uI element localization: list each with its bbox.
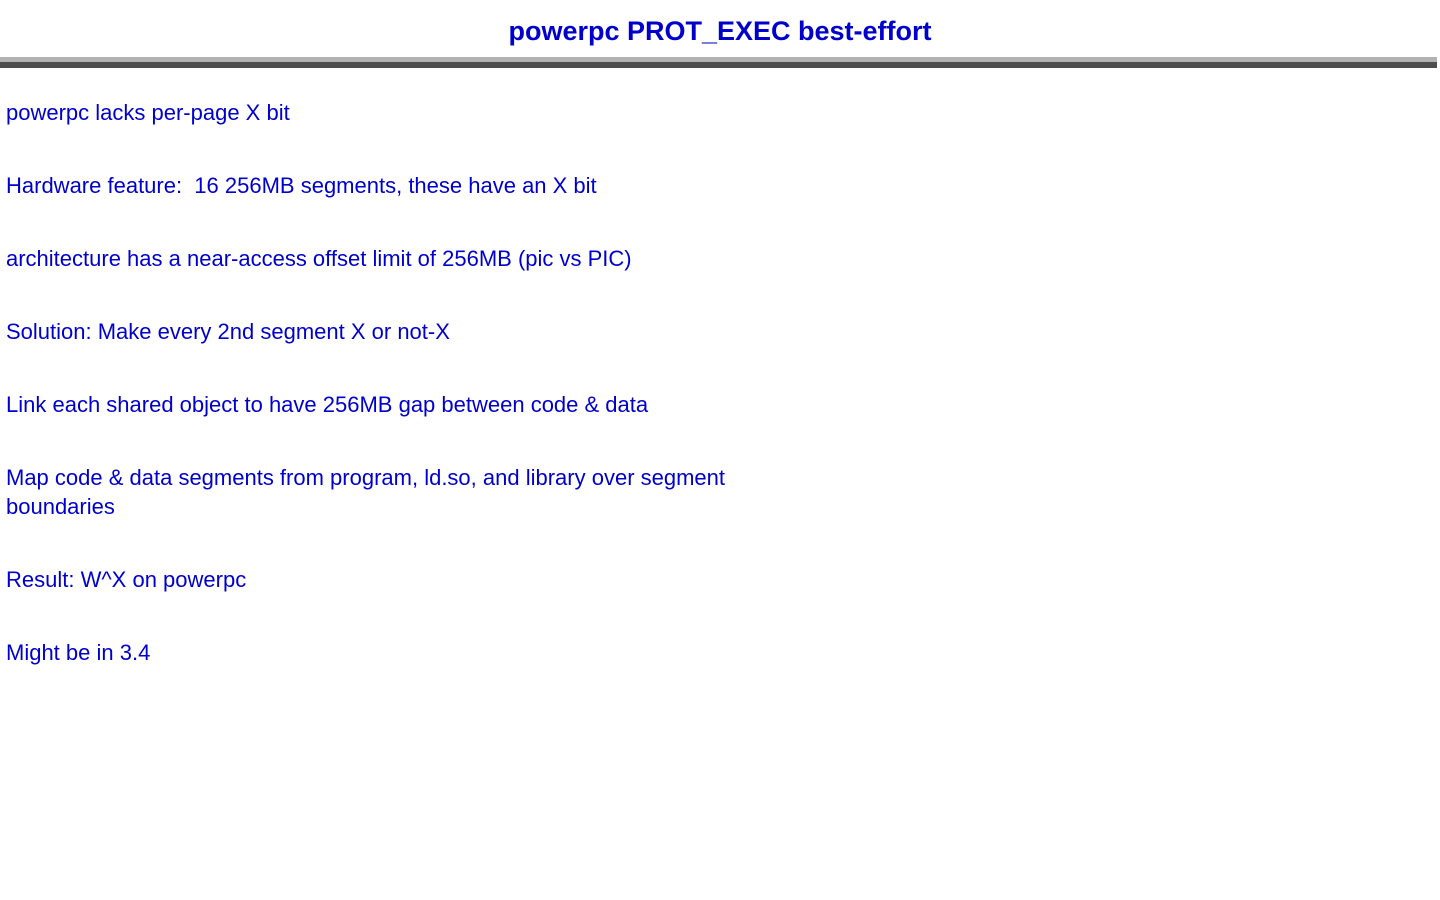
bullet-item: Solution: Make every 2nd segment X or no… bbox=[6, 317, 726, 346]
bullet-item: Hardware feature: 16 256MB segments, the… bbox=[6, 171, 726, 200]
page-title: powerpc PROT_EXEC best-effort bbox=[0, 0, 1440, 48]
bullet-item: powerpc lacks per-page X bit bbox=[6, 98, 726, 127]
slide-body: powerpc lacks per-page X bit Hardware fe… bbox=[0, 68, 1440, 667]
bullet-item: Result: W^X on powerpc bbox=[6, 565, 726, 594]
bullet-item: Might be in 3.4 bbox=[6, 638, 726, 667]
bullet-item: Link each shared object to have 256MB ga… bbox=[6, 390, 726, 419]
title-divider bbox=[0, 57, 1437, 68]
slide: powerpc PROT_EXEC best-effort powerpc la… bbox=[0, 0, 1440, 900]
bullet-item: architecture has a near-access offset li… bbox=[6, 244, 726, 273]
bullet-item: Map code & data segments from program, l… bbox=[6, 463, 726, 521]
